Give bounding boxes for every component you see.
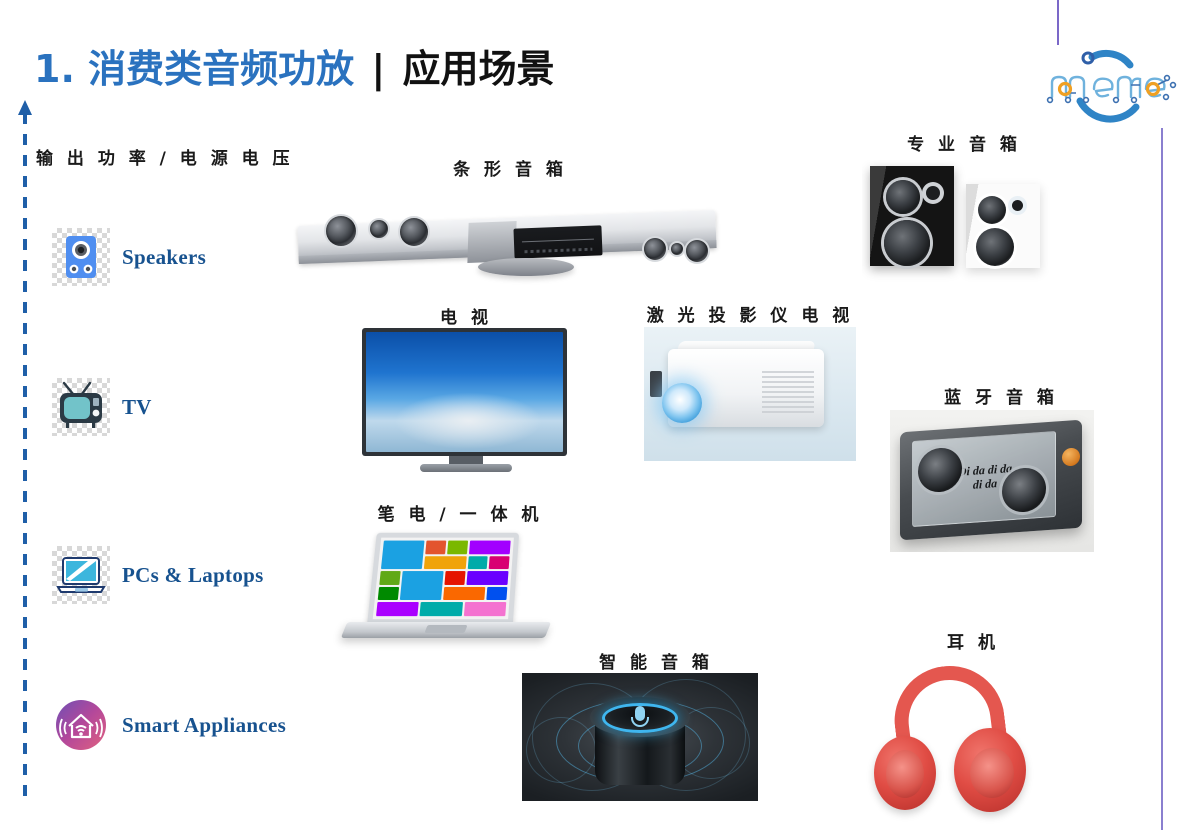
axis-dashed-line bbox=[23, 113, 27, 805]
soundbar-photo bbox=[292, 182, 728, 292]
laptop-photo bbox=[330, 528, 572, 654]
title-separator: | bbox=[367, 47, 389, 91]
decor-rule-right bbox=[1161, 128, 1163, 830]
title-number: 1. bbox=[34, 47, 75, 91]
category-pcs-laptops[interactable]: PCs & Laptops bbox=[52, 546, 264, 604]
smart-speaker-photo bbox=[522, 673, 758, 801]
axis-label: 输 出 功 率 / 电 源 电 压 bbox=[36, 144, 294, 169]
page-title: 1. 消费类音频功放 | 应用场景 bbox=[34, 38, 555, 93]
smart-home-wifi-icon bbox=[52, 696, 110, 754]
retro-tv-icon bbox=[52, 378, 110, 436]
product-label: 蓝 牙 音 箱 bbox=[906, 383, 1096, 408]
category-smart-appliances[interactable]: Smart Appliances bbox=[52, 696, 286, 754]
product-label: 笔 电 / 一 体 机 bbox=[360, 500, 560, 525]
bookshelf-speakers-photo bbox=[862, 160, 1066, 286]
product-label: 激 光 投 影 仪 电 视 bbox=[640, 301, 860, 326]
title-subtitle: 应用场景 bbox=[403, 47, 555, 91]
headphones-photo bbox=[860, 660, 1046, 824]
product-label: 专 业 音 箱 bbox=[874, 130, 1054, 155]
product-label: 条 形 音 箱 bbox=[400, 155, 620, 180]
acme-logo-icon bbox=[1036, 45, 1184, 127]
category-label: Smart Appliances bbox=[122, 713, 286, 738]
title-main-text: 消费类音频功放 bbox=[88, 47, 354, 91]
laser-projector-photo bbox=[644, 327, 856, 461]
product-label: 智 能 音 箱 bbox=[556, 648, 756, 673]
bluetooth-speaker-photo: Di da di da di da bbox=[890, 410, 1094, 552]
flat-screen-tv-photo bbox=[362, 328, 570, 474]
category-label: TV bbox=[122, 395, 152, 420]
laptop-icon bbox=[52, 546, 110, 604]
category-label: Speakers bbox=[122, 245, 206, 270]
product-label: 电 视 bbox=[386, 303, 546, 328]
category-tv[interactable]: TV bbox=[52, 378, 152, 436]
category-label: PCs & Laptops bbox=[122, 563, 264, 588]
category-speakers[interactable]: Speakers bbox=[52, 228, 206, 286]
speaker-box-icon bbox=[52, 228, 110, 286]
product-label: 耳 机 bbox=[898, 628, 1048, 653]
decor-rule-top bbox=[1057, 0, 1059, 45]
slide-canvas: 1. 消费类音频功放 | 应用场景 bbox=[0, 0, 1200, 830]
power-voltage-axis bbox=[18, 100, 32, 805]
